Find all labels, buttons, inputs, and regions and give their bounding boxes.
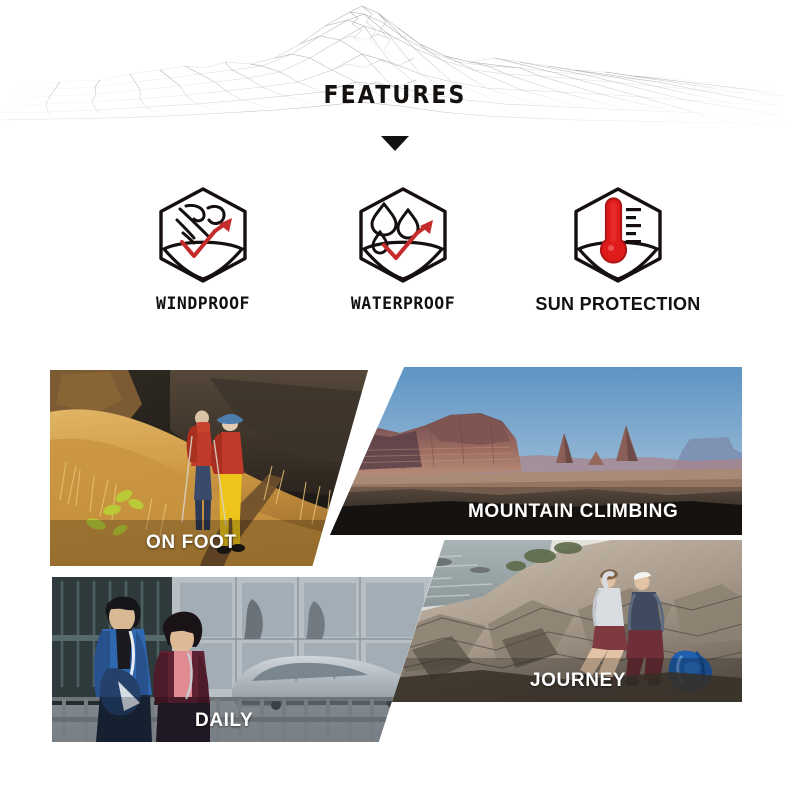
lifestyle-photo-collage: ON FOOT	[0, 355, 790, 775]
collage-label-mountain-climbing: MOUNTAIN CLIMBING	[468, 501, 678, 523]
collage-panel-journey[interactable]: JOURNEY	[392, 540, 742, 702]
wireframe-mountain-mesh-icon	[0, 0, 790, 135]
waterproof-hexagon-icon	[353, 186, 453, 284]
collage-panel-on-foot[interactable]: ON FOOT	[50, 370, 368, 566]
collage-panel-daily[interactable]: DAILY	[52, 577, 432, 742]
page-header: FEATURES	[0, 0, 790, 180]
thermometer-hexagon-icon	[568, 186, 668, 284]
feature-item-waterproof: WATERPROOF	[303, 186, 503, 313]
collage-label-on-foot: ON FOOT	[146, 532, 237, 554]
collage-label-journey: JOURNEY	[530, 670, 626, 692]
feature-item-sun-protection: SUN PROTECTION	[518, 186, 718, 315]
page-title: FEATURES	[47, 80, 742, 109]
collage-label-daily: DAILY	[195, 710, 253, 732]
triangle-down-icon	[381, 136, 409, 151]
feature-item-windproof: WINDPROOF	[103, 186, 303, 313]
collage-panel-mountain-climbing[interactable]: MOUNTAIN CLIMBING	[330, 367, 742, 535]
feature-label-waterproof: WATERPROOF	[303, 294, 503, 314]
feature-page: FEATURES	[0, 0, 790, 790]
windproof-hexagon-icon	[153, 186, 253, 284]
feature-label-windproof: WINDPROOF	[103, 294, 303, 314]
feature-icon-row: WINDPROOF WATERPROOF	[0, 186, 790, 326]
feature-label-sun-protection: SUN PROTECTION	[518, 294, 718, 315]
